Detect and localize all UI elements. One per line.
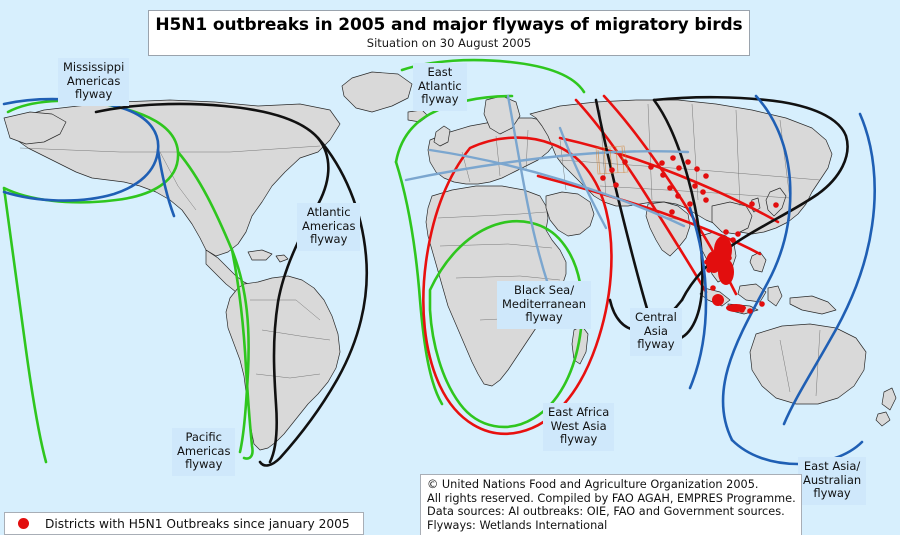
outbreak-dot: [660, 172, 666, 178]
outbreak-cluster: [712, 294, 724, 306]
outbreak-dot: [703, 173, 709, 179]
outbreak-dot: [622, 159, 628, 165]
outbreak-cluster: [718, 259, 734, 285]
page-title: H5N1 outbreaks in 2005 and major flyways…: [149, 15, 749, 35]
flyway-label-central-asia: Central Asia flyway: [630, 308, 682, 356]
outbreak-dot: [609, 167, 615, 173]
flyway-label-east-africa-west-asia: East Africa West Asia flyway: [543, 403, 614, 451]
outbreak-dot: [694, 166, 700, 172]
page-subtitle: Situation on 30 August 2005: [149, 36, 749, 50]
credits-box: © United Nations Food and Agriculture Or…: [420, 474, 802, 535]
outbreak-dot: [675, 193, 681, 199]
outbreak-dot: [692, 183, 698, 189]
outbreak-dot: [730, 237, 736, 243]
flyway-label-east-asia-australian: East Asia/ Australian flyway: [798, 457, 866, 505]
map-title-box: H5N1 outbreaks in 2005 and major flyways…: [148, 10, 750, 56]
outbreak-dot: [700, 189, 706, 195]
outbreak-dot: [773, 202, 779, 208]
outbreak-dot: [670, 155, 676, 161]
outbreak-dot: [613, 182, 619, 188]
outbreak-dot: [759, 301, 765, 307]
outbreak-dot: [676, 165, 682, 171]
flyway-label-pacific-americas: Pacific Americas flyway: [172, 428, 235, 476]
outbreak-dot: [667, 185, 673, 191]
flyway-label-black-sea-mediterranean: Black Sea/ Mediterranean flyway: [497, 281, 591, 329]
outbreak-dot: [600, 175, 606, 181]
flyway-label-east-atlantic: East Atlantic flyway: [413, 63, 467, 111]
outbreak-cluster: [726, 304, 746, 312]
outbreak-dot-icon: [18, 518, 29, 529]
outbreak-dot: [710, 285, 716, 291]
outbreak-dot: [749, 201, 755, 207]
map-figure: H5N1 outbreaks in 2005 and major flyways…: [0, 0, 900, 535]
outbreak-dot: [669, 209, 675, 215]
legend-label: Districts with H5N1 Outbreaks since janu…: [45, 517, 350, 531]
outbreak-dot: [685, 159, 691, 165]
outbreak-dot: [735, 231, 741, 237]
outbreak-dot: [687, 201, 693, 207]
flyway-label-atlantic-americas: Atlantic Americas flyway: [297, 203, 360, 251]
outbreak-dot: [723, 229, 729, 235]
outbreak-dot: [648, 164, 654, 170]
outbreak-dot: [747, 308, 753, 314]
flyway-label-mississippi-americas: Mississippi Americas flyway: [58, 58, 129, 106]
outbreak-dot: [703, 197, 709, 203]
legend-box: Districts with H5N1 Outbreaks since janu…: [4, 512, 364, 535]
outbreak-dot: [659, 160, 665, 166]
